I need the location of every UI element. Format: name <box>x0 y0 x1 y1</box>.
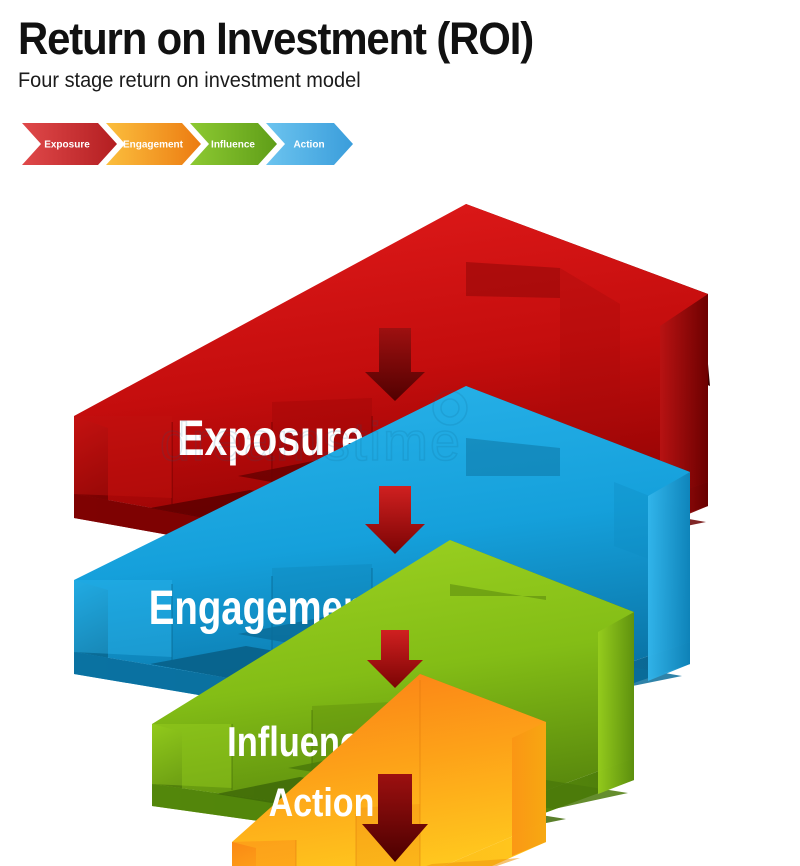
funnel-label-action: Action <box>269 779 375 824</box>
chevron-label-engagement: Engagement <box>123 140 184 151</box>
chevron-label-exposure: Exposure <box>44 140 90 151</box>
chevron-stage-engagement[interactable]: Engagement <box>106 123 201 165</box>
page-title: Return on Investment (ROI) <box>18 14 725 64</box>
chevron-label-action: Action <box>293 140 324 151</box>
chevron-label-influence: Influence <box>211 140 255 151</box>
page-subtitle: Four stage return on investment model <box>18 68 740 94</box>
chevron-stage-exposure[interactable]: Exposure <box>22 123 117 165</box>
chevron-stage-action[interactable]: Action <box>266 123 353 165</box>
roi-funnel-diagram: Exposure Engagement <box>0 176 800 866</box>
stage-chevron-banner: Exposure Engagement Influence Action <box>22 120 362 168</box>
chevron-stage-influence[interactable]: Influence <box>190 123 277 165</box>
header: Return on Investment (ROI) Four stage re… <box>18 14 778 94</box>
